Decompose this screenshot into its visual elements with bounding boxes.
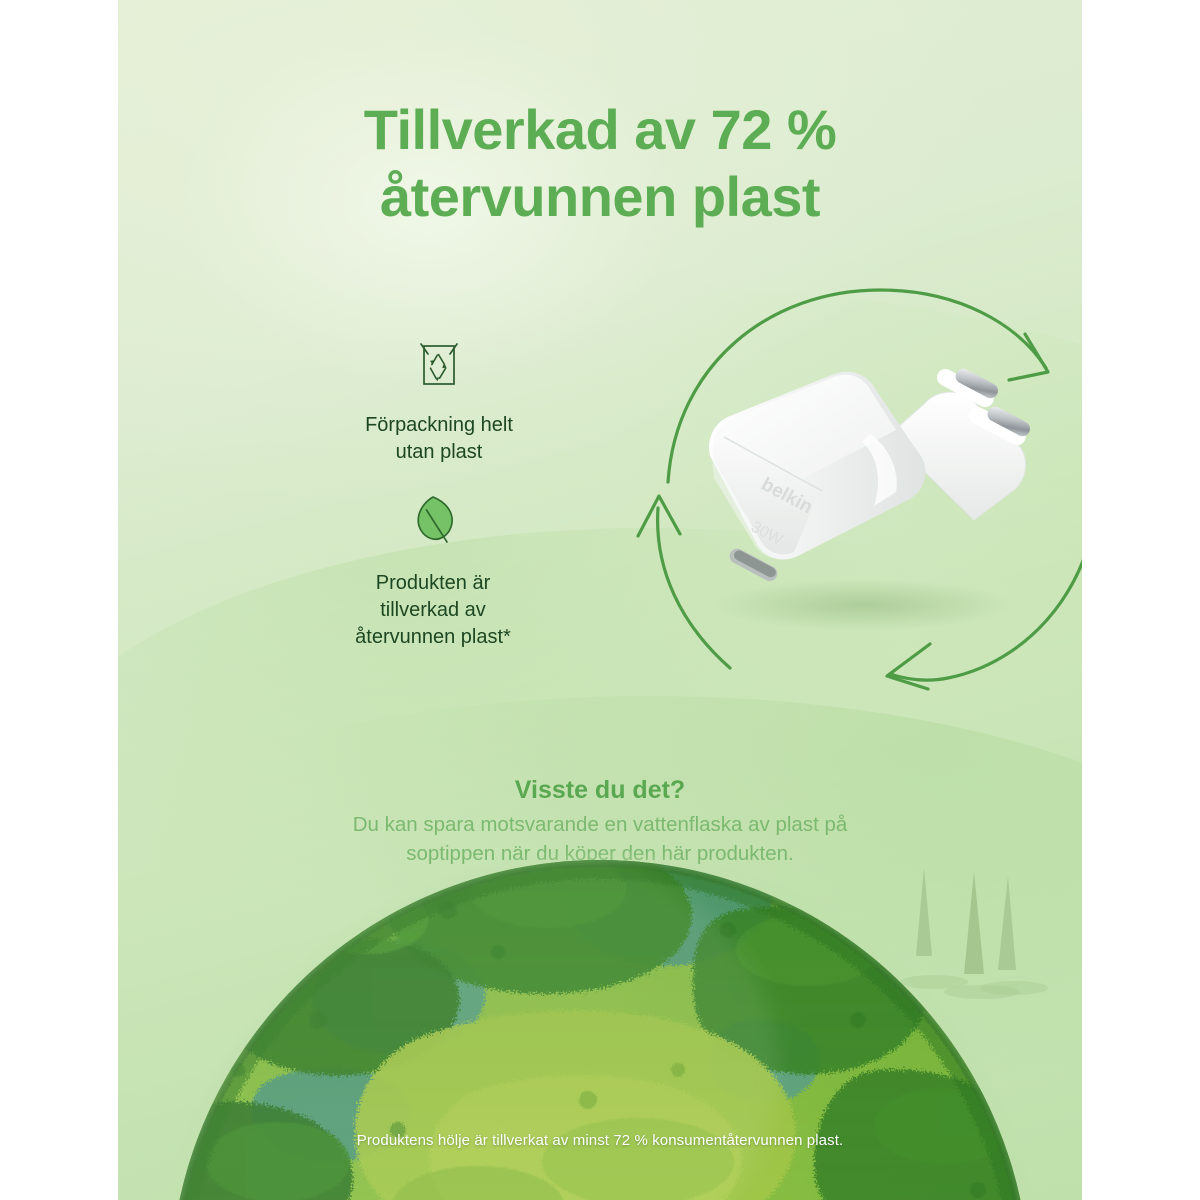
feature-recycled-label-line-3: återvunnen plast* <box>355 626 511 648</box>
feature-recycled-label-line-2: tillverkad av <box>380 599 486 621</box>
feature-recycled: Produkten är tillverkad av återvunnen pl… <box>308 494 558 651</box>
product-image-belkin-charger: belkin 30W <box>674 360 1082 630</box>
feature-packaging-label-line-2: utan plast <box>396 441 483 463</box>
feature-packaging-label: Förpackning helt utan plast <box>314 412 564 466</box>
recycle-box-icon <box>314 336 564 398</box>
page-title: Tillverkad av 72 % återvunnen plast <box>118 96 1082 230</box>
headline-line-1: Tillverkad av 72 % <box>118 96 1082 163</box>
green-content-panel: Tillverkad av 72 % återvunnen plast <box>118 0 1082 1200</box>
leaf-icon <box>308 494 558 556</box>
headline-line-2: återvunnen plast <box>118 163 1082 230</box>
poster-canvas: Tillverkad av 72 % återvunnen plast <box>0 0 1200 1200</box>
feature-recycled-label: Produkten är tillverkad av återvunnen pl… <box>308 570 558 651</box>
footer-disclaimer: Produktens hölje är tillverkat av minst … <box>118 1132 1082 1149</box>
feature-packaging-label-line-1: Förpackning helt <box>365 414 513 436</box>
feature-packaging: Förpackning helt utan plast <box>314 336 564 466</box>
feature-recycled-label-line-1: Produkten är <box>376 572 491 594</box>
